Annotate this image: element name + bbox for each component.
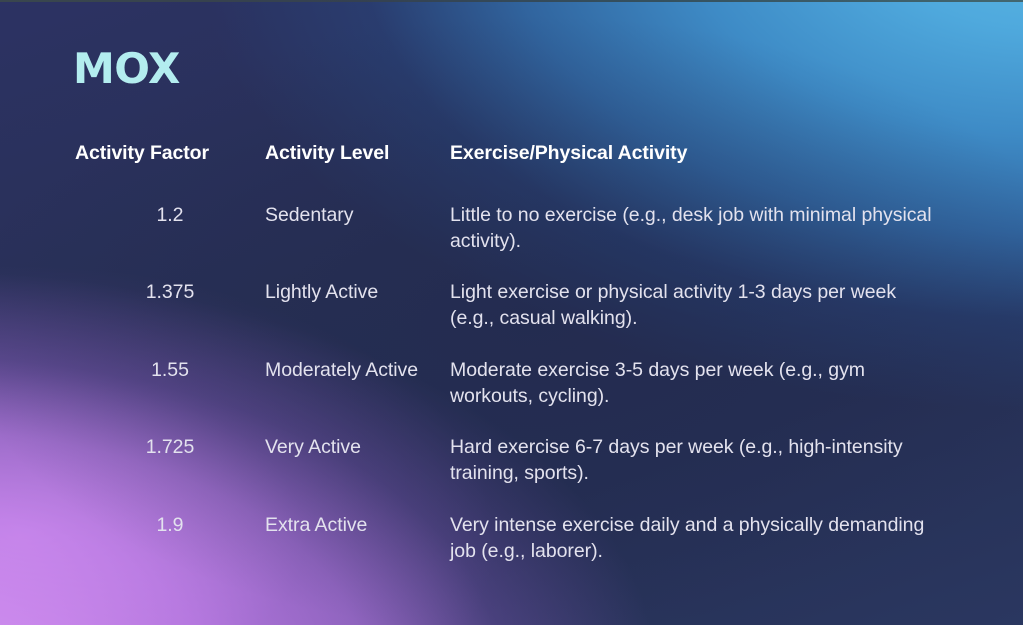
cell-activity-level: Moderately Active xyxy=(265,358,450,435)
column-header-activity-factor: Activity Factor xyxy=(75,142,265,203)
column-header-exercise-physical-activity: Exercise/Physical Activity xyxy=(450,142,945,203)
cell-activity-level: Lightly Active xyxy=(265,280,450,357)
cell-activity-factor: 1.375 xyxy=(75,280,265,357)
table-row: 1.375 Lightly Active Light exercise or p… xyxy=(75,280,945,357)
slide-content: MOX Activity Factor Activity Level Exerc… xyxy=(0,0,1023,625)
cell-activity-factor: 1.9 xyxy=(75,513,265,564)
cell-description: Very intense exercise daily and a physic… xyxy=(450,513,945,564)
table-header: Activity Factor Activity Level Exercise/… xyxy=(75,142,945,203)
table-row: 1.2 Sedentary Little to no exercise (e.g… xyxy=(75,203,945,280)
cell-description: Light exercise or physical activity 1-3 … xyxy=(450,280,945,357)
mox-logo: MOX xyxy=(73,48,180,90)
cell-activity-level: Extra Active xyxy=(265,513,450,564)
activity-factor-table: Activity Factor Activity Level Exercise/… xyxy=(75,142,945,564)
cell-activity-factor: 1.55 xyxy=(75,358,265,435)
column-header-activity-level: Activity Level xyxy=(265,142,450,203)
cell-description: Little to no exercise (e.g., desk job wi… xyxy=(450,203,945,280)
cell-activity-factor: 1.725 xyxy=(75,435,265,512)
cell-activity-level: Very Active xyxy=(265,435,450,512)
cell-activity-level: Sedentary xyxy=(265,203,450,280)
table-row: 1.9 Extra Active Very intense exercise d… xyxy=(75,513,945,564)
slide-canvas: MOX Activity Factor Activity Level Exerc… xyxy=(0,0,1023,625)
cell-activity-factor: 1.2 xyxy=(75,203,265,280)
cell-description: Moderate exercise 3-5 days per week (e.g… xyxy=(450,358,945,435)
table-header-row: Activity Factor Activity Level Exercise/… xyxy=(75,142,945,203)
cell-description: Hard exercise 6-7 days per week (e.g., h… xyxy=(450,435,945,512)
table-body: 1.2 Sedentary Little to no exercise (e.g… xyxy=(75,203,945,564)
table-row: 1.55 Moderately Active Moderate exercise… xyxy=(75,358,945,435)
table-row: 1.725 Very Active Hard exercise 6-7 days… xyxy=(75,435,945,512)
